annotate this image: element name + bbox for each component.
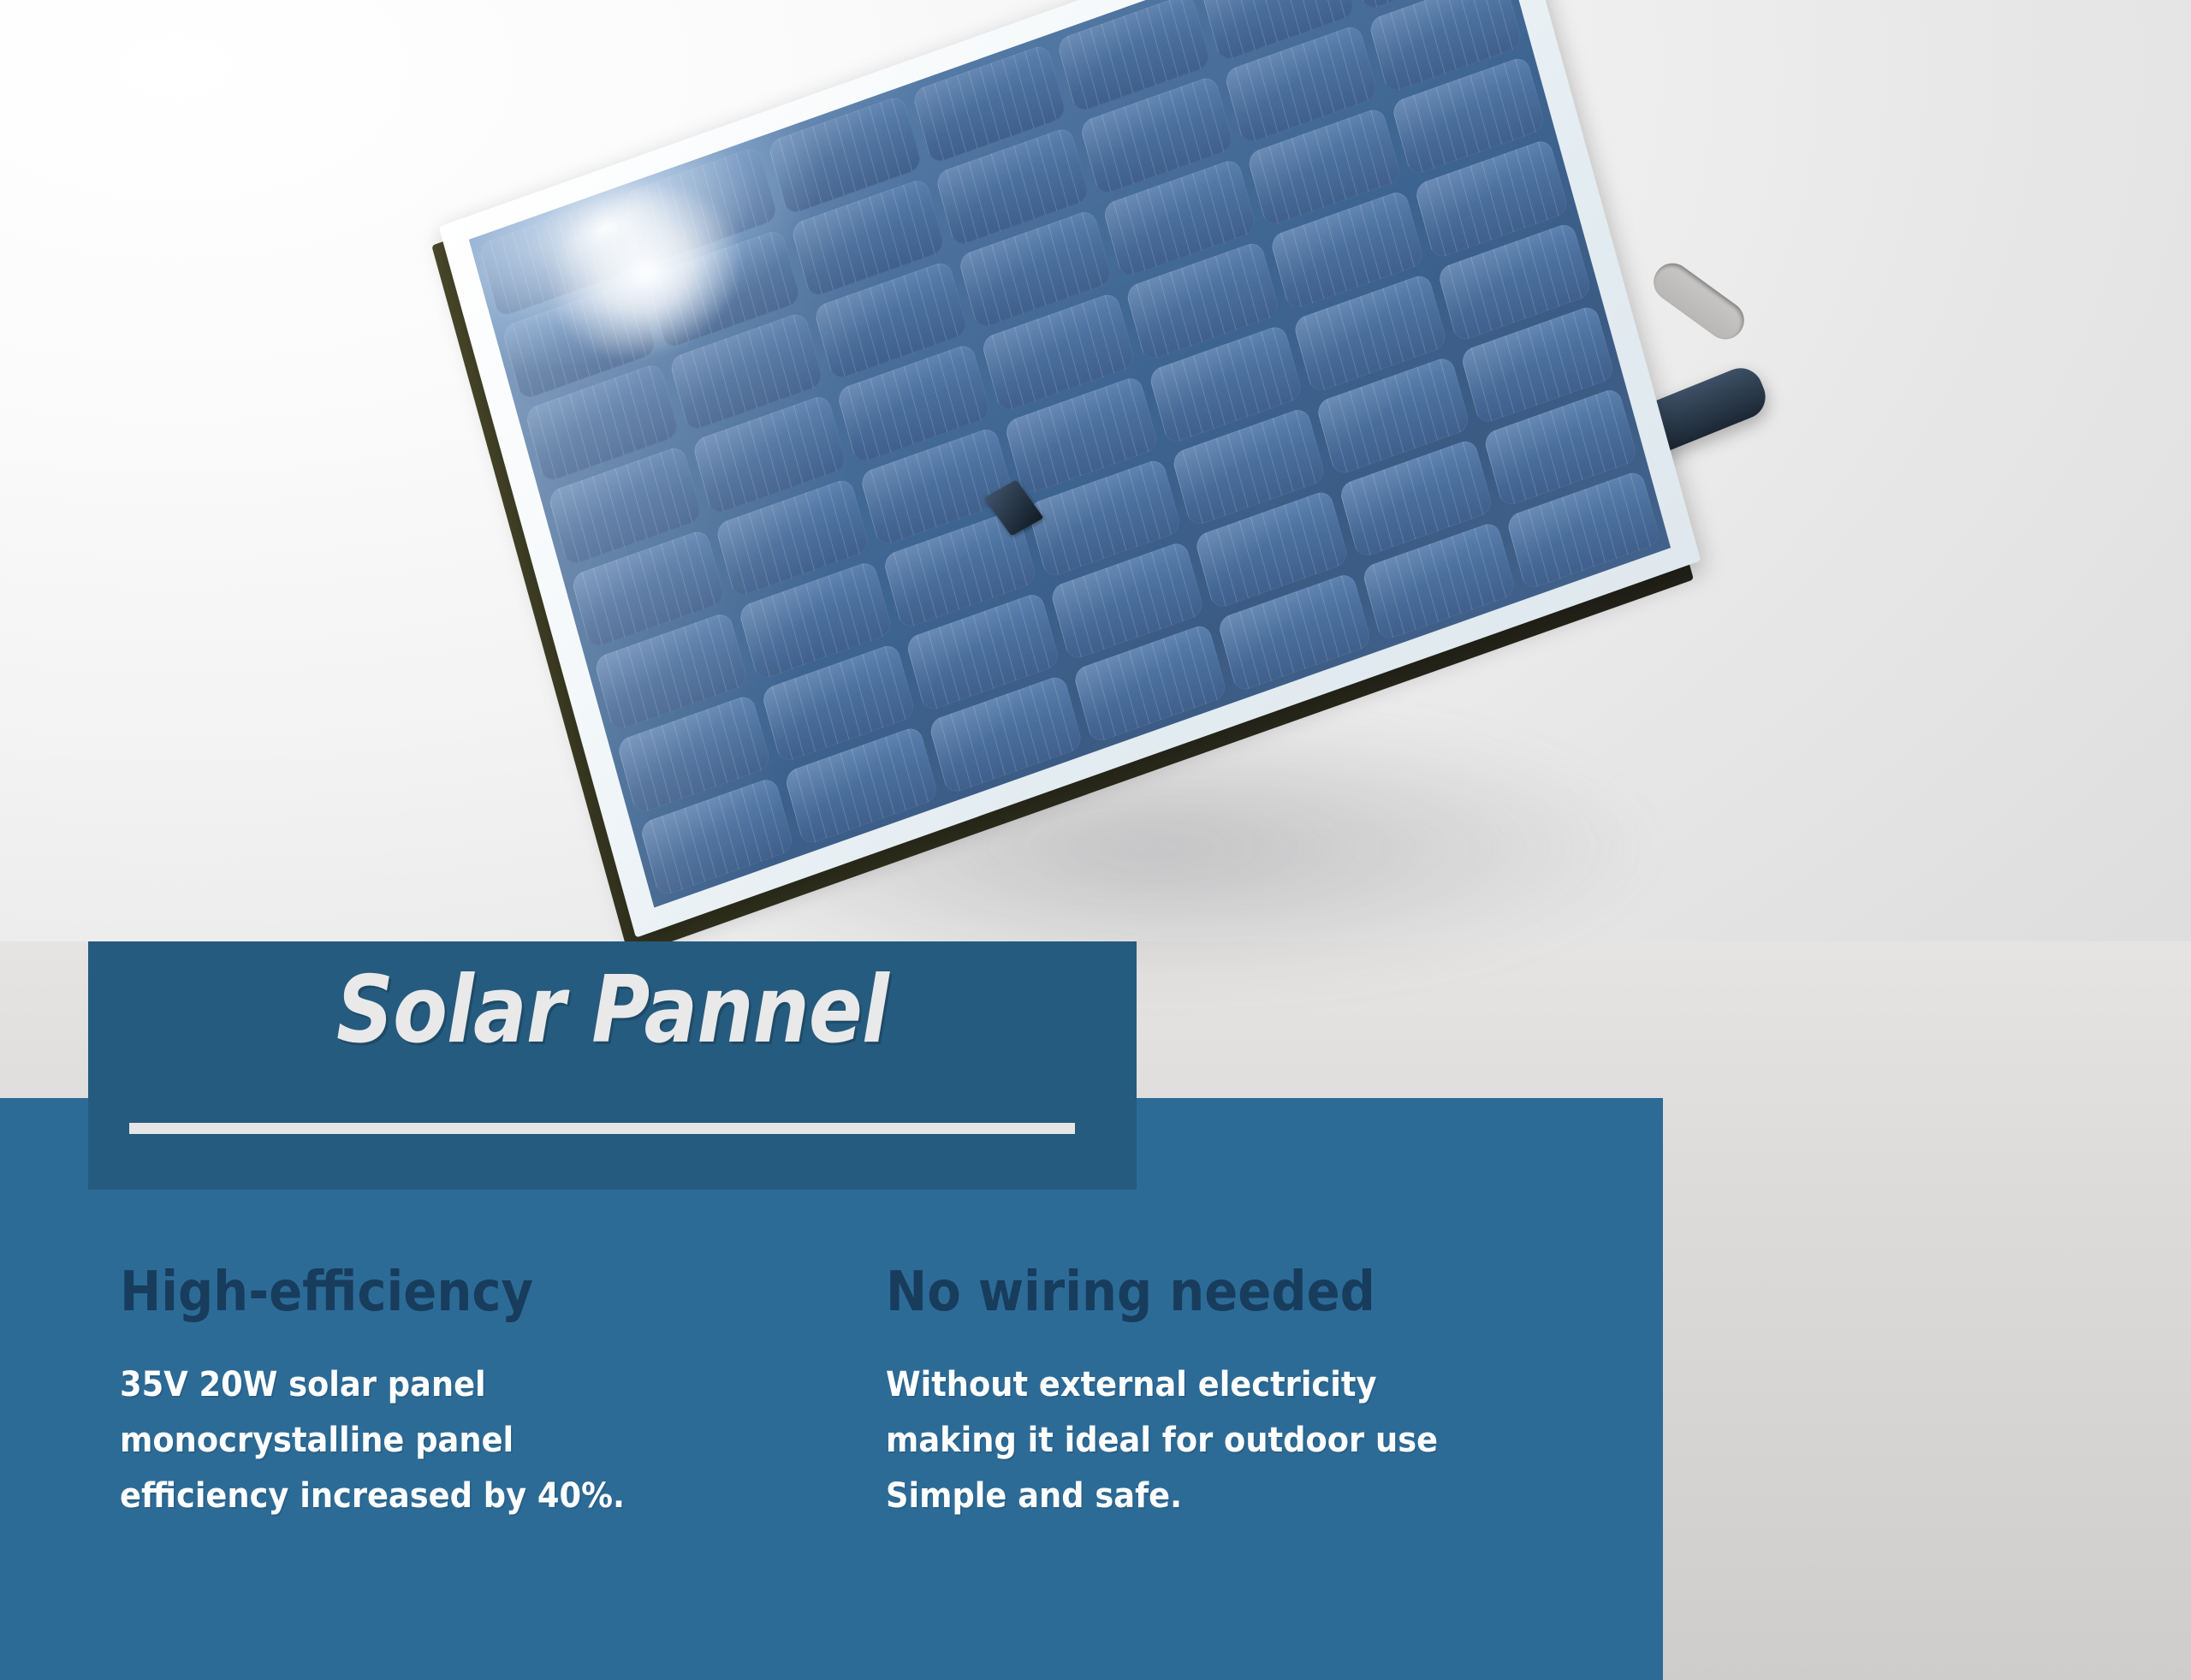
features-list: High-efficiency 35V 20W solar panel mono…: [120, 1265, 1629, 1523]
title-plate: Solar Pannel: [88, 941, 1137, 1190]
feature-no-wiring: No wiring needed Without external electr…: [886, 1265, 1502, 1523]
panel-cell-array: [469, 0, 1671, 908]
mounting-bracket-slot: [1647, 256, 1752, 347]
title-underline-rule: [129, 1123, 1075, 1134]
feature-body: 35V 20W solar panel monocrystalline pane…: [120, 1357, 686, 1523]
feature-line: monocrystalline panel: [120, 1413, 686, 1469]
page-title: Solar Pannel: [162, 957, 1064, 1064]
feature-title: No wiring needed: [886, 1265, 1440, 1320]
feature-body: Without external electricity making it i…: [886, 1357, 1452, 1523]
feature-line: efficiency increased by 40%.: [120, 1469, 686, 1524]
solar-panel-body: [439, 0, 1701, 938]
feature-line: Simple and safe.: [886, 1469, 1452, 1524]
feature-line: Without external electricity: [886, 1357, 1452, 1413]
feature-line: making it ideal for outdoor use: [886, 1413, 1452, 1469]
feature-title: High-efficiency: [120, 1265, 674, 1320]
feature-line: 35V 20W solar panel: [120, 1357, 686, 1413]
feature-high-efficiency: High-efficiency 35V 20W solar panel mono…: [120, 1265, 736, 1523]
solar-cell-grid: [469, 0, 1671, 908]
solar-panel-photo: [377, 0, 2003, 950]
